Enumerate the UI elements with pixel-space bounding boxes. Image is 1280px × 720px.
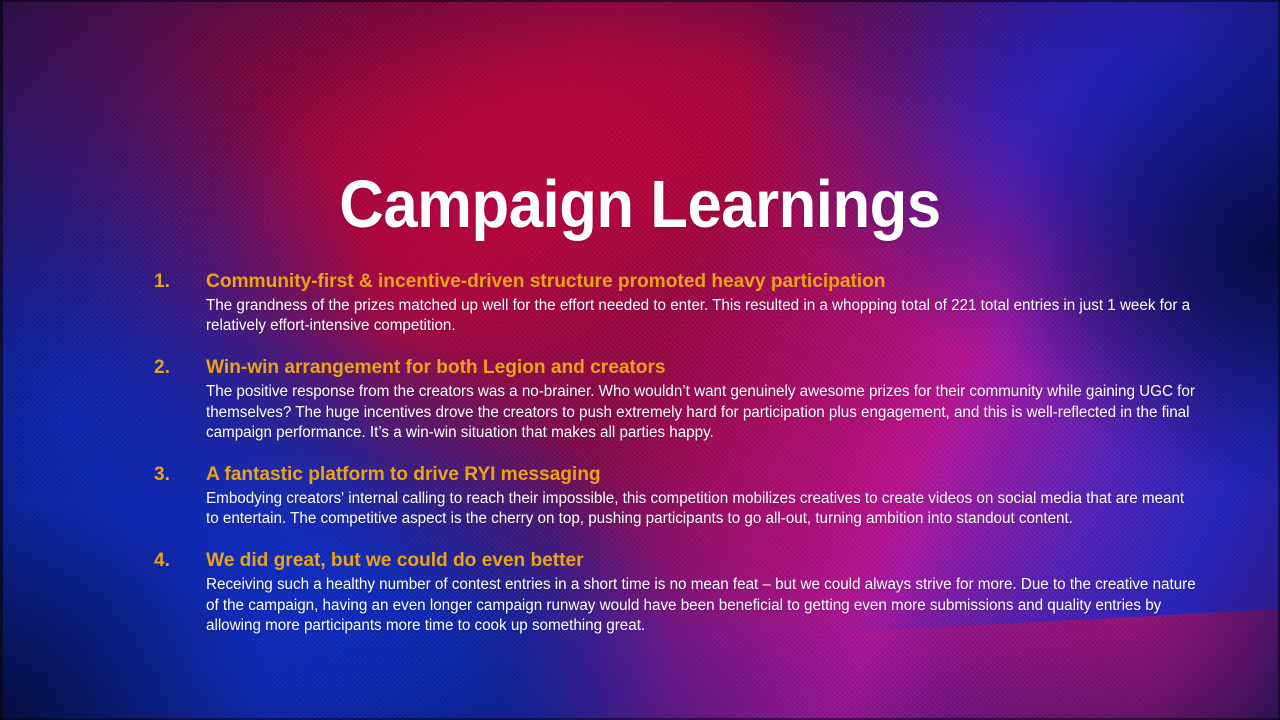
presentation-slide: Campaign Learnings 1. Community-first & … (0, 0, 1280, 720)
list-item-heading: Community-first & incentive-driven struc… (206, 269, 1195, 294)
list-item: 4. We did great, but we could do even be… (154, 548, 1210, 636)
list-item-text: Receiving such a healthy number of conte… (206, 575, 1200, 636)
list-item-heading: A fantastic platform to drive RYI messag… (206, 462, 1195, 487)
list-item-body: We did great, but we could do even bette… (206, 548, 1210, 636)
list-item-text: The grandness of the prizes matched up w… (206, 296, 1200, 336)
slide-content: Campaign Learnings 1. Community-first & … (0, 0, 1280, 720)
list-item-number: 4. (154, 548, 206, 573)
list-item: 3. A fantastic platform to drive RYI mes… (154, 462, 1210, 529)
learnings-list: 1. Community-first & incentive-driven st… (114, 269, 1210, 636)
list-item-body: A fantastic platform to drive RYI messag… (206, 462, 1210, 529)
list-item-text: The positive response from the creators … (206, 382, 1200, 443)
list-item: 2. Win-win arrangement for both Legion a… (154, 355, 1210, 443)
list-item-body: Community-first & incentive-driven struc… (206, 269, 1210, 336)
list-item-text: Embodying creators' internal calling to … (206, 489, 1200, 529)
list-item-number: 3. (154, 462, 206, 487)
page-title: Campaign Learnings (51, 171, 1229, 238)
list-item-number: 1. (154, 269, 206, 294)
list-item-heading: Win-win arrangement for both Legion and … (206, 355, 1195, 380)
list-item-heading: We did great, but we could do even bette… (206, 548, 1195, 573)
list-item-number: 2. (154, 355, 206, 380)
list-item-body: Win-win arrangement for both Legion and … (206, 355, 1210, 443)
list-item: 1. Community-first & incentive-driven st… (154, 269, 1210, 336)
